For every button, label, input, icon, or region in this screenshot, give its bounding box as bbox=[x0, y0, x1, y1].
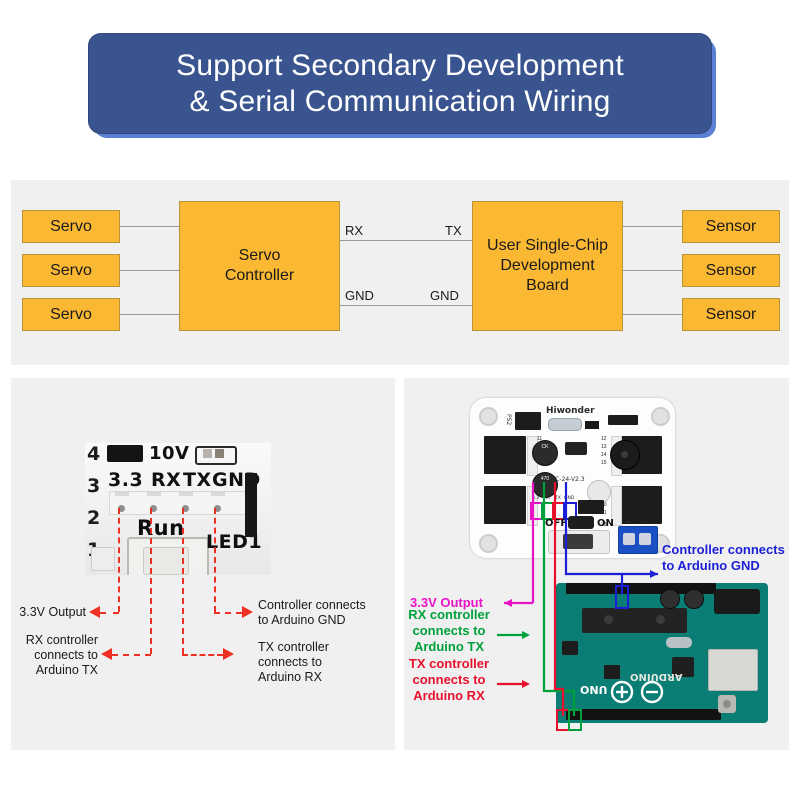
annotation-3v3-output-text: 3.3V Output bbox=[19, 605, 86, 619]
servo-controller-label-line-2: Controller bbox=[225, 266, 294, 286]
leader-v-gnd bbox=[214, 508, 216, 612]
macro-row-number-4: 4 bbox=[87, 443, 100, 465]
controller-header-macro-photo: 10V 4 3 2 1 3.3 RX TX GND Run LED1 bbox=[85, 443, 271, 575]
wiring-annotation-rx-line-1: RX controller bbox=[404, 607, 494, 623]
block-sensor-3-label: Sensor bbox=[706, 306, 757, 324]
wiring-annotation-tx-line-3: Arduino RX bbox=[404, 688, 494, 704]
uno-analog-header bbox=[566, 709, 721, 720]
arrow-rx bbox=[101, 648, 112, 660]
arduino-infinity-logo bbox=[606, 679, 668, 705]
servo-header-left-bottom bbox=[484, 486, 526, 524]
block-servo-1: Servo bbox=[22, 210, 120, 243]
annotation-tx-line-1: TX controller bbox=[258, 640, 378, 655]
leader-h-3v3 bbox=[100, 612, 119, 614]
leader-h-rx bbox=[112, 654, 151, 656]
arrow-gnd bbox=[242, 606, 253, 618]
annotation-gnd: Controller connects to Arduino GND bbox=[258, 598, 388, 628]
servo-controller-label-line-1: Servo bbox=[239, 246, 281, 266]
serial-pin-silk-3v3: 3.3 bbox=[532, 496, 539, 501]
block-servo-3-label: Servo bbox=[50, 306, 92, 324]
banner-title-line-1: Support Secondary Development bbox=[176, 48, 624, 84]
wire-label-gnd-left: GND bbox=[345, 288, 374, 303]
wiring-annotation-tx-line-2: connects to bbox=[404, 672, 494, 688]
leader-v-3v3 bbox=[118, 508, 120, 612]
wiring-annotation-tx-line-1: TX controller bbox=[404, 656, 494, 672]
capacitor-1-text: CK bbox=[542, 444, 549, 450]
pin-number-right-15: 15 bbox=[601, 460, 607, 466]
ps2-label: PS2 bbox=[505, 414, 512, 425]
capacitor-2-text: 470 bbox=[541, 476, 549, 482]
wiring-annotation-rx-line-2: connects to bbox=[404, 623, 494, 639]
aux-header bbox=[578, 500, 604, 514]
ps2-header bbox=[515, 412, 541, 430]
wiring-annotation-rx-line-3: Arduino TX bbox=[404, 639, 494, 655]
capacitor-1: CK bbox=[532, 440, 558, 466]
pin-number-right-14: 14 bbox=[601, 452, 607, 458]
annotation-tx-line-2: connects to bbox=[258, 655, 378, 670]
wiring-annotation-rx: RX controller connects to Arduino TX bbox=[404, 607, 494, 655]
mount-hole-tl bbox=[479, 407, 498, 426]
leader-h-tx bbox=[182, 654, 223, 656]
uno-icsp2-header bbox=[604, 665, 620, 679]
annotation-rx-line-3: Arduino TX bbox=[0, 663, 98, 678]
hiwonder-controller-board: Hiwonder LSC-24-V2.3 PS2 11 10 9 8 12 13… bbox=[470, 398, 675, 558]
wire-gnd bbox=[339, 305, 472, 306]
annotation-rx-line-2: connects to bbox=[0, 648, 98, 663]
macro-pin-label-3v3: 3.3 bbox=[108, 469, 143, 491]
arrow-tx bbox=[223, 648, 234, 660]
dev-board-label-line-3: Board bbox=[526, 276, 569, 296]
wiring-annotation-tx: TX controller connects to Arduino RX bbox=[404, 656, 494, 704]
annotation-tx-line-3: Arduino RX bbox=[258, 670, 378, 685]
pin-number-right-12: 12 bbox=[601, 436, 607, 442]
page-header-banner: Support Secondary Development & Serial C… bbox=[88, 33, 716, 138]
block-sensor-2: Sensor bbox=[682, 254, 780, 287]
mount-hole-tr bbox=[651, 407, 670, 426]
macro-pin-label-rx: RX bbox=[151, 469, 181, 491]
wire-rx-tx bbox=[339, 240, 472, 241]
switch-off-label: OFF bbox=[545, 518, 567, 529]
macro-row-number-3: 3 bbox=[87, 475, 100, 497]
serial-pin-silk-tx: TX bbox=[555, 496, 561, 501]
wire-label-gnd-right: GND bbox=[430, 288, 459, 303]
macro-row-number-2: 2 bbox=[87, 507, 100, 529]
arduino-uno-board: ARDUINO UNO bbox=[556, 583, 768, 723]
annotation-rx-line-1: RX controller bbox=[0, 633, 98, 648]
annotation-gnd-line-2: to Arduino GND bbox=[258, 613, 388, 628]
block-sensor-3: Sensor bbox=[682, 298, 780, 331]
servo-header-left-top bbox=[484, 436, 526, 474]
annotation-rx: RX controller connects to Arduino TX bbox=[0, 633, 98, 678]
banner-body: Support Secondary Development & Serial C… bbox=[88, 33, 712, 134]
block-sensor-2-label: Sensor bbox=[706, 262, 757, 280]
block-servo-3: Servo bbox=[22, 298, 120, 331]
macro-pin-label-tx: TX bbox=[183, 469, 212, 491]
dev-board-label-line-1: User Single-Chip bbox=[487, 236, 608, 256]
dev-board-label-line-2: Development bbox=[500, 256, 594, 276]
serial-pin-silk-gnd: GND bbox=[564, 496, 574, 501]
macro-voltage-label: 10V bbox=[149, 443, 189, 464]
switch-on-label: ON bbox=[597, 518, 614, 529]
block-servo-controller: Servo Controller bbox=[179, 201, 340, 331]
block-sensor-1: Sensor bbox=[682, 210, 780, 243]
annotation-gnd-line-1: Controller connects bbox=[258, 598, 388, 613]
capacitor-2: 470 bbox=[532, 472, 558, 498]
block-servo-2-label: Servo bbox=[50, 262, 92, 280]
wire-label-rx: RX bbox=[345, 223, 363, 238]
leader-v-rx bbox=[150, 508, 152, 654]
pin-number-right-13: 13 bbox=[601, 444, 607, 450]
wiring-annotation-gnd-line-1: Controller connects bbox=[662, 542, 792, 558]
block-servo-2: Servo bbox=[22, 254, 120, 287]
terminal-minus-label: − bbox=[644, 518, 650, 526]
block-servo-1-label: Servo bbox=[50, 218, 92, 236]
terminal-plus-label: + bbox=[625, 518, 631, 526]
top-right-header bbox=[608, 415, 638, 425]
block-user-dev-board: User Single-Chip Development Board bbox=[472, 201, 623, 331]
leader-v-tx bbox=[182, 508, 184, 654]
mount-hole-bl bbox=[479, 534, 498, 553]
uno-model-label: UNO bbox=[580, 683, 608, 696]
uno-icsp-header bbox=[562, 641, 578, 655]
leader-h-gnd bbox=[214, 612, 242, 614]
wire-label-tx: TX bbox=[445, 223, 462, 238]
banner-title-line-2: & Serial Communication Wiring bbox=[190, 84, 611, 120]
block-diagram-panel: Servo Servo Servo Servo Controller User … bbox=[11, 180, 789, 365]
annotation-tx: TX controller connects to Arduino RX bbox=[258, 640, 378, 685]
wiring-annotation-gnd: Controller connects to Arduino GND bbox=[662, 542, 792, 574]
block-sensor-1-label: Sensor bbox=[706, 218, 757, 236]
annotation-3v3-output: 3.3V Output bbox=[0, 605, 86, 620]
wiring-annotation-gnd-line-2: to Arduino GND bbox=[662, 558, 792, 574]
serial-pin-silk-rx: RX bbox=[544, 496, 550, 501]
board-brand-label: Hiwonder bbox=[546, 406, 595, 416]
arrow-3v3 bbox=[89, 606, 100, 618]
